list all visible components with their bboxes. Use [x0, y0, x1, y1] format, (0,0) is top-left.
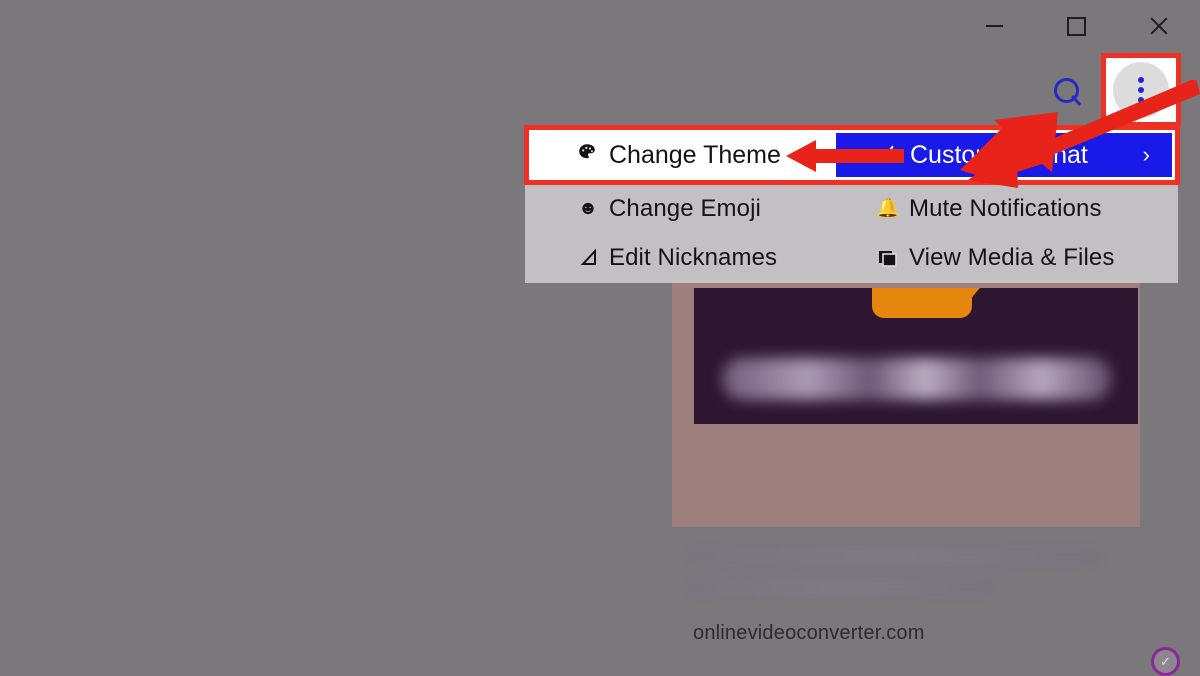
menu-item-change-theme-highlighted[interactable]: Change Theme: [529, 130, 833, 180]
more-options-button[interactable]: [1113, 62, 1169, 118]
menu-item-label: Mute Notifications: [909, 195, 1102, 223]
menu-item-mute-notifications[interactable]: 🔔 Mute Notifications: [833, 184, 1178, 233]
maximize-button[interactable]: [1054, 6, 1098, 46]
menu-item-customize-chat-selected[interactable]: Customize Chat ›: [833, 130, 1175, 180]
menu-item-view-media-files[interactable]: View Media & Files: [833, 233, 1178, 283]
caption-area: [686, 548, 1116, 610]
pencil-icon: [876, 141, 899, 169]
menu-item-change-emoji[interactable]: ☻ Change Emoji: [525, 184, 833, 233]
chevron-right-icon: ›: [1143, 142, 1150, 168]
highlighted-menu-row: Change Theme Customize Chat ›: [529, 130, 1175, 180]
site-url: onlinevideoconverter.com: [693, 622, 925, 645]
palette-icon: [577, 142, 597, 168]
pencil-edit-icon: [577, 247, 599, 269]
search-button[interactable]: [1048, 74, 1092, 118]
content-card: [672, 280, 1140, 527]
check-icon: ✓: [1160, 655, 1171, 668]
close-button[interactable]: [1136, 6, 1180, 46]
menu-item-label: Edit Nicknames: [609, 244, 777, 272]
options-button-highlight: [1101, 53, 1181, 127]
verified-badge: ✓: [1151, 647, 1180, 676]
caption-line-1: [686, 548, 1102, 566]
three-dots-icon-dot-1: [1138, 77, 1144, 83]
minimize-button[interactable]: [972, 6, 1016, 46]
window-titlebar: [0, 0, 1200, 52]
close-icon: [1148, 16, 1168, 36]
minimize-icon: [986, 25, 1003, 27]
menu-item-label: Customize Chat: [910, 141, 1088, 170]
menu-item-edit-nicknames[interactable]: Edit Nicknames: [525, 233, 833, 283]
speech-bubble-graphic: [872, 288, 972, 318]
bell-icon: 🔔: [877, 198, 899, 220]
maximize-icon: [1067, 17, 1086, 36]
smiley-icon: ☻: [577, 198, 599, 220]
menu-item-label: Change Theme: [609, 141, 781, 170]
video-thumbnail[interactable]: [694, 288, 1138, 424]
caption-line-2: [686, 578, 996, 596]
three-dots-icon-dot-2: [1138, 87, 1144, 93]
three-dots-icon-dot-3: [1138, 97, 1144, 103]
media-files-icon: [877, 247, 899, 269]
thumbnail-blurred-text: [722, 358, 1112, 400]
menu-item-label: View Media & Files: [909, 244, 1114, 272]
menu-item-label: Change Emoji: [609, 195, 761, 223]
